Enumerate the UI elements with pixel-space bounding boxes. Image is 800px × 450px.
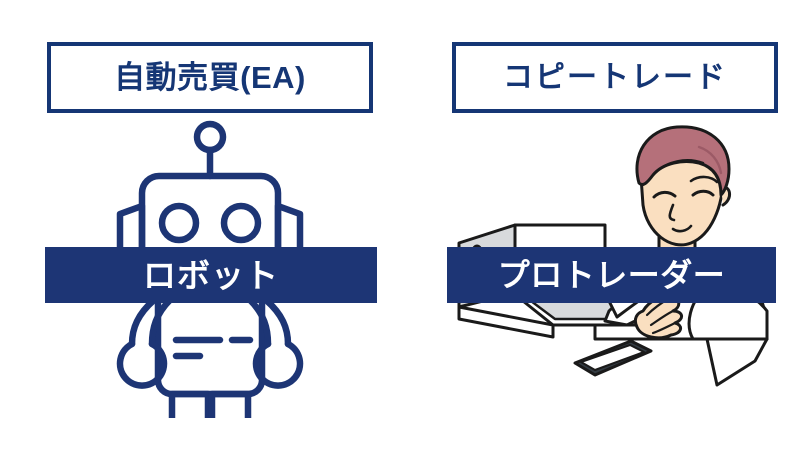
- slide-canvas: 自動売買(EA) コピートレード: [0, 0, 800, 450]
- robot-left-eye-icon: [162, 206, 196, 240]
- banner-pro-trader: プロトレーダー: [447, 247, 776, 303]
- title-box-copy-trade: コピートレード: [452, 42, 778, 113]
- smartphone-icon: [575, 341, 651, 375]
- desk-edge-icon: [707, 339, 767, 385]
- banner-label-pro-trader: プロトレーダー: [498, 259, 726, 291]
- title-box-ea: 自動売買(EA): [47, 42, 373, 113]
- robot-right-leg-icon: [212, 394, 248, 418]
- banner-robot: ロボット: [45, 247, 377, 303]
- title-label-copy-trade: コピートレード: [503, 63, 727, 93]
- robot-left-leg-icon: [172, 394, 208, 418]
- banner-label-robot: ロボット: [143, 259, 279, 292]
- robot-right-eye-icon: [224, 206, 258, 240]
- title-label-ea: 自動売買(EA): [114, 62, 306, 93]
- antenna-bulb-icon: [197, 124, 223, 150]
